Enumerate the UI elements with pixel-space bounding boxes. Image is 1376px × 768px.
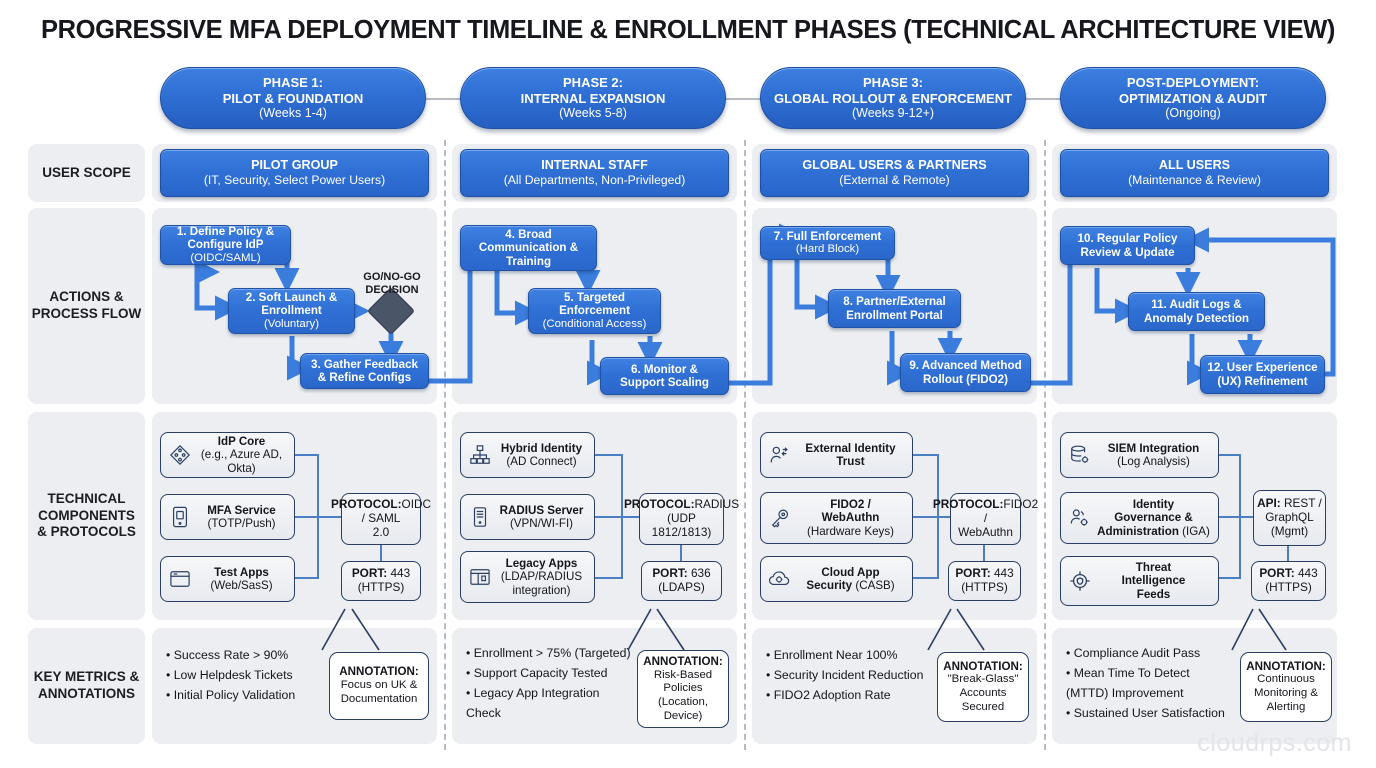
tech-box-p2-3[interactable]: Legacy Apps(LDAP/RADIUS integration) (460, 551, 595, 603)
flow-box-11[interactable]: 11. Audit Logs & Anomaly Detection (1128, 292, 1265, 331)
annotation-p3-body: "Break-Glass" Accounts Secured (948, 673, 1019, 714)
tech-p1-3-rest: (Web/SasS) (210, 579, 272, 592)
watermark: cloudrps.com (1197, 729, 1352, 758)
row-label-metrics: KEY METRICS & ANNOTATIONS (28, 628, 145, 744)
user-scope-1-main: PILOT GROUP (251, 158, 338, 173)
flow-box-3-main: 3. Gather Feedback & Refine Configs (311, 358, 418, 385)
flow-box-7[interactable]: 7. Full Enforcement (Hard Block) (760, 226, 895, 260)
tech-box-p3-2[interactable]: FIDO2 / WebAuthn(Hardware Keys) (760, 492, 913, 544)
server-rack-icon (465, 506, 495, 528)
flow-box-5[interactable]: 5. Targeted Enforcement (Conditional Acc… (528, 288, 661, 334)
annotation-p2-title: ANNOTATION: (643, 655, 722, 669)
column-separator-1 (444, 140, 446, 750)
flow-box-1-main: 1. Define Policy & Configure IdP (177, 225, 274, 252)
flow-box-3[interactable]: 3. Gather Feedback & Refine Configs (300, 353, 429, 389)
tech-box-p3-3[interactable]: Cloud App Security (CASB) (760, 556, 913, 602)
page-title: PROGRESSIVE MFA DEPLOYMENT TIMELINE & EN… (0, 16, 1376, 45)
tech-p3-2-rest: (Hardware Keys) (807, 525, 894, 538)
flow-box-9[interactable]: 9. Advanced Method Rollout (FIDO2) (900, 353, 1031, 392)
api-p4-label: API: (1257, 496, 1281, 510)
phase-3-line3: (Weeks 9-12+) (852, 106, 934, 121)
flow-box-7-main: 7. Full Enforcement (774, 230, 882, 243)
column-separator-2 (744, 140, 746, 750)
flow-box-11-main: 11. Audit Logs & Anomaly Detection (1144, 298, 1249, 325)
port-p3-label: PORT: (955, 566, 990, 580)
row-label-user-scope: USER SCOPE (28, 144, 145, 202)
flow-box-2[interactable]: 2. Soft Launch & Enrollment (Voluntary) (228, 288, 355, 334)
org-tree-icon (465, 444, 495, 466)
diagram-root: PROGRESSIVE MFA DEPLOYMENT TIMELINE & EN… (0, 0, 1376, 768)
tech-p2-1-rest: (AD Connect) (506, 455, 576, 468)
row-label-technical-text: TECHNICAL COMPONENTS & PROTOCOLS (37, 491, 136, 542)
mobile-phone-icon (165, 506, 195, 528)
tech-box-p4-1[interactable]: SIEM Integration(Log Analysis) (1060, 432, 1219, 478)
flow-box-9-main: 9. Advanced Method Rollout (FIDO2) (909, 359, 1021, 386)
tech-box-p2-1[interactable]: Hybrid Identity(AD Connect) (460, 432, 595, 478)
user-scope-box-2[interactable]: INTERNAL STAFF (All Departments, Non-Pri… (460, 149, 729, 197)
cloud-gear-icon (765, 569, 795, 589)
flow-box-10-main: 10. Regular Policy Review & Update (1078, 232, 1178, 259)
phase-3-line1: PHASE 3: (863, 75, 923, 90)
row-label-actions: ACTIONS & PROCESS FLOW (28, 208, 145, 404)
tech-p1-2-bold: MFA Service (207, 504, 276, 517)
protocol-box-p2[interactable]: PROTOCOL:RADIUS (UDP 1812/1813) (639, 493, 724, 545)
row-label-technical: TECHNICAL COMPONENTS & PROTOCOLS (28, 412, 145, 620)
phase-4-line3: (Ongoing) (1165, 106, 1221, 121)
row-label-user-scope-text: USER SCOPE (42, 165, 131, 182)
user-scope-box-4[interactable]: ALL USERS (Maintenance & Review) (1060, 149, 1329, 197)
tech-p1-2-rest: (TOTP/Push) (207, 517, 275, 530)
user-scope-box-1[interactable]: PILOT GROUP (IT, Security, Select Power … (160, 149, 429, 197)
flow-box-4-main: 4. Broad Communication & Training (479, 228, 578, 268)
flow-box-10[interactable]: 10. Regular Policy Review & Update (1060, 226, 1195, 265)
diamond-nodes-icon (165, 444, 195, 466)
phase-4-line2: OPTIMIZATION & AUDIT (1119, 91, 1267, 106)
metrics-list-p2: • Enrollment > 75% (Targeted) • Support … (466, 644, 641, 724)
tech-p1-1-bold: IdP Core (218, 435, 265, 448)
protocol-box-p3[interactable]: PROTOCOL:FIDO2 / WebAuthn (950, 493, 1021, 545)
go-no-go-decision-label: GO/NO-GO DECISION (348, 258, 436, 298)
user-scope-1-sub: (IT, Security, Select Power Users) (204, 173, 385, 188)
annotation-p2[interactable]: ANNOTATION: Risk-Based Policies (Locatio… (637, 650, 729, 728)
pill-connector-2-3 (726, 98, 762, 100)
protocol-p1-label: PROTOCOL: (331, 497, 402, 511)
legacy-app-window-icon (465, 567, 495, 587)
metrics-p1-bullets: • Success Rate > 90% • Low Helpdesk Tick… (166, 646, 326, 706)
phase-pill-1[interactable]: PHASE 1: PILOT & FOUNDATION (Weeks 1-4) (160, 67, 426, 129)
tech-box-p1-1[interactable]: IdP Core(e.g., Azure AD, Okta) (160, 432, 295, 478)
tech-box-p4-2[interactable]: Identity Governance & Administration (IG… (1060, 492, 1219, 544)
port-p1-label: PORT: (352, 566, 387, 580)
user-scope-4-main: ALL USERS (1159, 158, 1230, 173)
go-no-go-decision-text: GO/NO-GO DECISION (363, 271, 420, 296)
phase-4-line1: POST-DEPLOYMENT: (1127, 75, 1259, 90)
tech-p2-3-bold: Legacy Apps (506, 557, 578, 570)
flow-box-8-main: 8. Partner/External Enrollment Portal (843, 295, 945, 322)
security-key-icon (765, 507, 795, 529)
flow-box-7-sub: (Hard Block) (796, 243, 859, 256)
annotation-p3-title: ANNOTATION: (943, 660, 1022, 674)
annotation-p1[interactable]: ANNOTATION: Focus on UK & Documentation (329, 652, 429, 720)
annotation-p2-body: Risk-Based Policies (Location, Device) (654, 669, 712, 724)
metrics-p2-bullets: • Enrollment > 75% (Targeted) • Support … (466, 644, 641, 724)
phase-1-line2: PILOT & FOUNDATION (223, 91, 364, 106)
port-box-p3[interactable]: PORT: 443 (HTTPS) (948, 561, 1021, 601)
phase-3-line2: GLOBAL ROLLOUT & ENFORCEMENT (774, 91, 1012, 106)
flow-box-1[interactable]: 1. Define Policy & Configure IdP (OIDC/S… (160, 225, 291, 265)
tech-p2-3-rest: (LDAP/RADIUS integration) (501, 570, 582, 596)
phase-2-line1: PHASE 2: (563, 75, 623, 90)
flow-box-4[interactable]: 4. Broad Communication & Training (460, 225, 597, 271)
tech-p3-2-bold: FIDO2 / WebAuthn (822, 498, 880, 524)
flow-box-8[interactable]: 8. Partner/External Enrollment Portal (828, 289, 961, 328)
flow-box-12-main: 12. User Experience (UX) Refinement (1207, 361, 1317, 388)
user-scope-4-sub: (Maintenance & Review) (1128, 173, 1261, 188)
user-scope-2-sub: (All Departments, Non-Privileged) (504, 173, 686, 188)
annotation-p3[interactable]: ANNOTATION: "Break-Glass" Accounts Secur… (937, 652, 1029, 722)
flow-box-2-main: 2. Soft Launch & Enrollment (246, 291, 337, 318)
tech-box-p4-3[interactable]: Threat Intelligence Feeds (1060, 556, 1219, 606)
tech-p1-3-bold: Test Apps (214, 566, 269, 579)
flow-box-6[interactable]: 6. Monitor & Support Scaling (600, 357, 729, 395)
flow-box-1-sub: (OIDC/SAML) (190, 252, 260, 265)
pill-connector-1-2 (426, 98, 462, 100)
tech-box-p2-2[interactable]: RADIUS Server(VPN/WI-FI) (460, 494, 595, 540)
port-box-p2[interactable]: PORT: 636 (LDAPS) (641, 561, 722, 601)
phase-pill-3[interactable]: PHASE 3: GLOBAL ROLLOUT & ENFORCEMENT (W… (760, 67, 1026, 129)
tech-p3-3-rest: (CASB) (852, 579, 895, 592)
user-gear-icon (1065, 507, 1095, 529)
tech-p4-1-rest: (Log Analysis) (1117, 455, 1190, 468)
crosshair-shield-icon (1065, 569, 1095, 593)
tech-p2-1-bold: Hybrid Identity (501, 442, 582, 455)
row-label-actions-text: ACTIONS & PROCESS FLOW (32, 289, 142, 323)
flow-box-5-sub: (Conditional Access) (543, 318, 647, 331)
phase-pill-2[interactable]: PHASE 2: INTERNAL EXPANSION (Weeks 5-8) (460, 67, 726, 129)
flow-box-2-sub: (Voluntary) (264, 318, 319, 331)
user-scope-3-sub: (External & Remote) (839, 173, 949, 188)
annotation-p4[interactable]: ANNOTATION: Continuous Monitoring & Aler… (1240, 652, 1332, 722)
port-p2-label: PORT: (652, 566, 687, 580)
port-box-p4[interactable]: PORT: 443 (HTTPS) (1251, 561, 1326, 601)
metrics-list-p4: • Compliance Audit Pass • Mean Time To D… (1066, 644, 1246, 724)
annotation-p4-title: ANNOTATION: (1246, 660, 1325, 674)
tech-p4-1-bold: SIEM Integration (1108, 442, 1199, 455)
tech-box-p1-2[interactable]: MFA Service(TOTP/Push) (160, 494, 295, 540)
database-gear-icon (1065, 444, 1095, 466)
row-label-metrics-text: KEY METRICS & ANNOTATIONS (34, 669, 140, 703)
flow-box-5-main: 5. Targeted Enforcement (559, 291, 630, 318)
metrics-list-p3: • Enrollment Near 100% • Security Incide… (766, 646, 946, 706)
protocol-box-p1[interactable]: PROTOCOL:OIDC / SAML 2.0 (341, 493, 421, 545)
phase-2-line2: INTERNAL EXPANSION (521, 91, 666, 106)
phase-pill-4[interactable]: POST-DEPLOYMENT: OPTIMIZATION & AUDIT (O… (1060, 67, 1326, 129)
phase-1-line1: PHASE 1: (263, 75, 323, 90)
pill-connector-3-4 (1026, 98, 1062, 100)
metrics-list-p1: • Success Rate > 90% • Low Helpdesk Tick… (166, 646, 326, 706)
user-scope-3-main: GLOBAL USERS & PARTNERS (802, 158, 986, 173)
port-box-p1[interactable]: PORT: 443 (HTTPS) (341, 561, 421, 601)
phase-1-line3: (Weeks 1-4) (259, 106, 327, 121)
column-separator-3 (1044, 140, 1046, 750)
tech-p2-2-rest: (VPN/WI-FI) (510, 517, 573, 530)
tech-p2-2-bold: RADIUS Server (500, 504, 584, 517)
tech-p4-2-rest: (IGA) (1179, 525, 1210, 538)
tech-p1-1-rest: (e.g., Azure AD, Okta) (201, 448, 282, 474)
annotation-p4-body: Continuous Monitoring & Alerting (1254, 673, 1318, 714)
tech-box-p3-1[interactable]: External Identity Trust (760, 432, 913, 478)
external-user-icon (765, 444, 795, 466)
user-scope-box-3[interactable]: GLOBAL USERS & PARTNERS (External & Remo… (760, 149, 1029, 197)
port-p4-label: PORT: (1259, 566, 1294, 580)
tech-box-p1-3[interactable]: Test Apps(Web/SasS) (160, 556, 295, 602)
metrics-p4-bullets: • Compliance Audit Pass • Mean Time To D… (1066, 644, 1246, 724)
metrics-p3-bullets: • Enrollment Near 100% • Security Incide… (766, 646, 946, 706)
phase-2-line3: (Weeks 5-8) (559, 106, 627, 121)
flow-box-12[interactable]: 12. User Experience (UX) Refinement (1200, 355, 1325, 394)
protocol-p2-label: PROTOCOL: (624, 497, 695, 511)
tech-p3-1-bold: External Identity Trust (805, 442, 895, 468)
api-box-p4[interactable]: API: REST / GraphQL (Mgmt) (1253, 490, 1326, 546)
tech-p4-3-bold: Threat Intelligence Feeds (1122, 561, 1186, 600)
annotation-p1-body: Focus on UK & Documentation (341, 679, 418, 706)
annotation-p1-title: ANNOTATION: (339, 665, 418, 679)
flow-box-6-main: 6. Monitor & Support Scaling (620, 363, 709, 390)
protocol-p3-label: PROTOCOL: (933, 497, 1004, 511)
browser-window-icon (165, 569, 195, 589)
user-scope-2-main: INTERNAL STAFF (541, 158, 648, 173)
